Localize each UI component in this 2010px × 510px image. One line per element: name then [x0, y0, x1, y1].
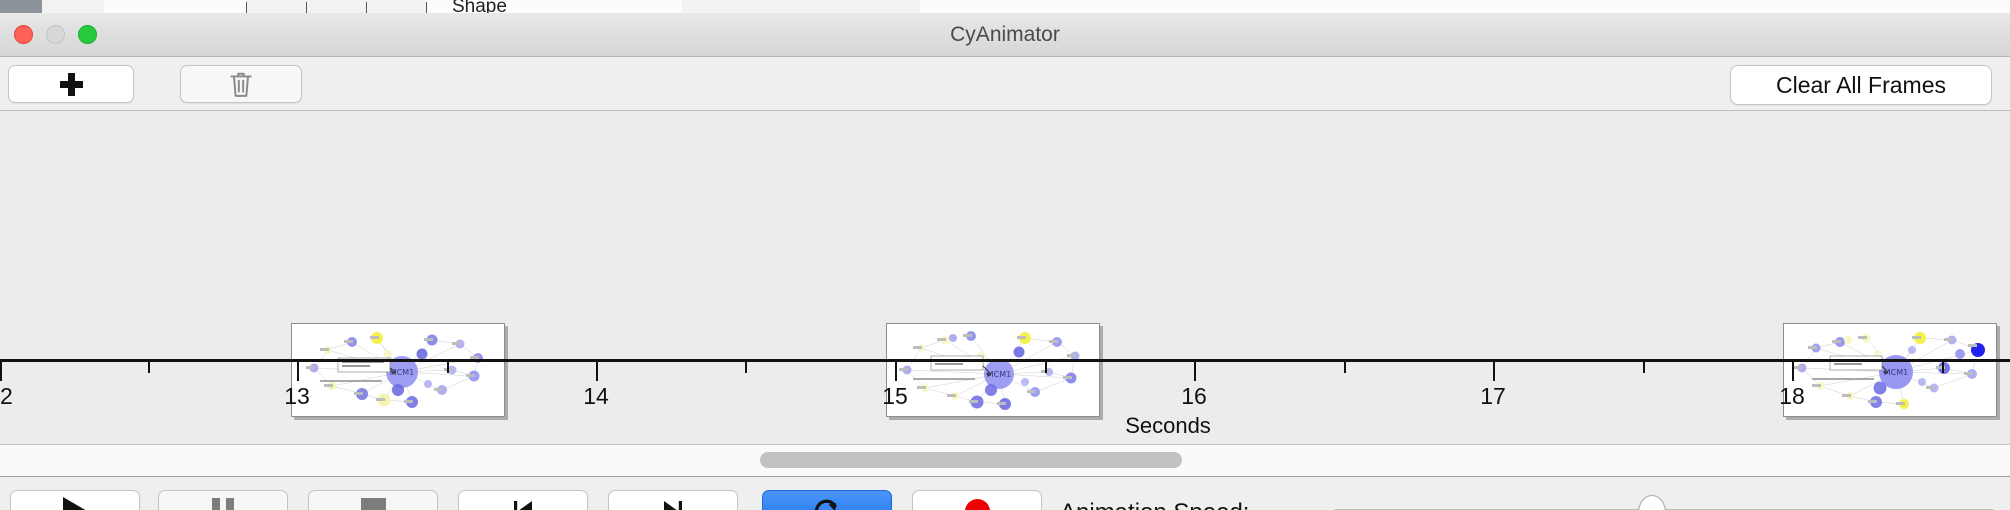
cyanimator-window: CyAnimator Clear All Frames — [0, 13, 2010, 510]
axis-tick — [1643, 362, 1645, 373]
timeline-scrollbar[interactable] — [0, 445, 2010, 477]
frames-layer: MCM1 — [0, 111, 2010, 359]
axis-tick — [1493, 362, 1495, 381]
animation-speed-label: Animation Speed: — [1060, 499, 1249, 510]
play-icon — [63, 497, 87, 510]
axis-tick-label: 13 — [284, 383, 310, 410]
time-axis: 12 13 14 15 16 17 18 Seconds — [0, 359, 2010, 444]
axis-title: Seconds — [1125, 413, 1211, 439]
axis-tick — [1045, 362, 1047, 373]
background-window-strip: Shape — [0, 0, 2010, 13]
bg-chunk — [0, 0, 43, 13]
axis-tick — [297, 362, 299, 381]
axis-tick — [1792, 362, 1794, 381]
delete-frame-button[interactable] — [180, 65, 302, 103]
axis-tick — [895, 362, 897, 381]
plus-icon — [60, 73, 83, 96]
background-partial-label: Shape — [452, 0, 507, 13]
record-button[interactable] — [912, 490, 1042, 510]
loop-button[interactable] — [762, 490, 892, 510]
slider-thumb[interactable] — [1638, 495, 1666, 510]
axis-tick — [148, 362, 150, 373]
bg-tick — [426, 2, 427, 13]
loop-icon — [813, 497, 841, 510]
axis-line — [0, 359, 2010, 362]
skip-next-icon — [660, 498, 686, 510]
axis-tick — [1194, 362, 1196, 381]
axis-tick — [1344, 362, 1346, 373]
axis-tick-label: 16 — [1181, 383, 1207, 410]
skip-previous-icon — [510, 498, 536, 510]
pause-button[interactable] — [158, 490, 288, 510]
record-icon — [965, 499, 990, 510]
timeline-panel[interactable]: MCM1 — [0, 111, 2010, 445]
axis-tick-label: 14 — [583, 383, 609, 410]
animation-speed-slider[interactable] — [1333, 490, 1995, 510]
previous-frame-button[interactable] — [458, 490, 588, 510]
stop-button[interactable] — [308, 490, 438, 510]
scrollbar-thumb[interactable] — [760, 452, 1182, 468]
axis-tick — [596, 362, 598, 381]
bg-chunk — [682, 0, 921, 13]
bg-chunk — [42, 0, 105, 13]
add-frame-button[interactable] — [8, 65, 134, 103]
bg-tick — [366, 2, 367, 13]
bg-chunk — [104, 0, 246, 13]
axis-tick — [0, 362, 2, 381]
bg-tick — [306, 2, 307, 13]
play-button[interactable] — [10, 490, 140, 510]
frame-toolbar: Clear All Frames — [0, 57, 2010, 111]
bg-tick — [246, 2, 247, 13]
next-frame-button[interactable] — [608, 490, 738, 510]
axis-tick — [447, 362, 449, 373]
bg-chunk — [246, 0, 427, 13]
axis-tick-label: 15 — [882, 383, 908, 410]
window-title: CyAnimator — [0, 23, 2010, 47]
trash-icon — [228, 70, 254, 98]
axis-tick — [1942, 362, 1944, 373]
axis-tick-label: 12 — [0, 383, 13, 410]
clear-all-frames-button[interactable]: Clear All Frames — [1730, 65, 1992, 105]
axis-tick-label: 18 — [1779, 383, 1805, 410]
playback-bar: Animation Speed: — [0, 477, 2010, 510]
stop-icon — [361, 498, 386, 510]
title-bar: CyAnimator — [0, 13, 2010, 57]
pause-icon — [212, 498, 234, 510]
axis-tick — [745, 362, 747, 373]
bg-chunk — [920, 0, 2010, 13]
axis-tick-label: 17 — [1480, 383, 1506, 410]
